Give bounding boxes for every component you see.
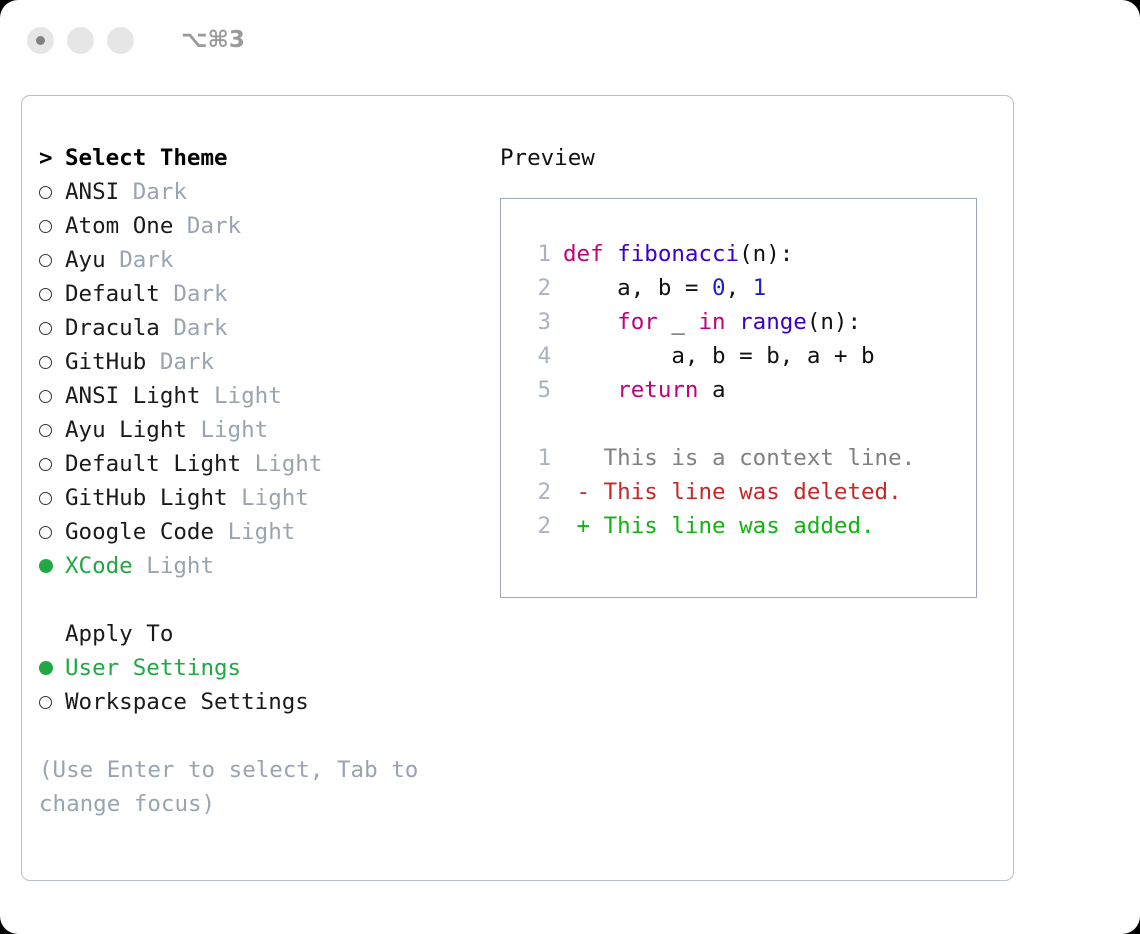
- preview-box: 1def fibonacci(n):2 a, b = 0, 13 for _ i…: [500, 198, 977, 598]
- theme-list-item[interactable]: ANSI Dark: [39, 175, 469, 209]
- theme-list-item[interactable]: Dracula Dark: [39, 311, 469, 345]
- window-dot-3[interactable]: [107, 27, 134, 54]
- theme-list-item[interactable]: Ayu Light Light: [39, 413, 469, 447]
- radio-selected-icon[interactable]: [39, 559, 65, 573]
- theme-variant: Dark: [173, 315, 227, 341]
- theme-variant: Dark: [133, 179, 187, 205]
- code-text: - This line was deleted.: [563, 479, 902, 505]
- token-plain: [563, 377, 617, 403]
- keyboard-hint: (Use Enter to select, Tab to change focu…: [39, 753, 469, 821]
- code-preview: 1def fibonacci(n):2 a, b = 0, 13 for _ i…: [521, 237, 976, 543]
- radio-bullet: [39, 492, 52, 505]
- theme-list-item[interactable]: GitHub Light Light: [39, 481, 469, 515]
- token-del: - This line was deleted.: [563, 479, 902, 505]
- theme-list-item[interactable]: Atom One Dark: [39, 209, 469, 243]
- line-number: 4: [521, 343, 551, 369]
- apply-to-option[interactable]: User Settings: [39, 651, 469, 685]
- radio-bullet: [39, 220, 52, 233]
- radio-bullet: [39, 322, 52, 335]
- code-line: 2 a, b = 0, 1: [521, 271, 976, 305]
- theme-list-item[interactable]: ANSI Light Light: [39, 379, 469, 413]
- code-line: 2 - This line was deleted.: [521, 475, 976, 509]
- theme-name: ANSI Light: [65, 383, 200, 409]
- token-plain: a: [698, 377, 725, 403]
- main-panel: > Select Theme ANSI DarkAtom One DarkAyu…: [21, 95, 1014, 881]
- token-plain: (n):: [807, 309, 861, 335]
- radio-unselected-icon[interactable]: [39, 186, 65, 199]
- radio-unselected-icon[interactable]: [39, 696, 65, 709]
- code-line: 3 for _ in range(n):: [521, 305, 976, 339]
- theme-name: Default Light: [65, 451, 241, 477]
- token-num: 0: [712, 275, 726, 301]
- code-text: for _ in range(n):: [563, 309, 861, 335]
- code-line: 5 return a: [521, 373, 976, 407]
- terminal-window: ⌥⌘3 > Select Theme ANSI DarkAtom One Dar…: [0, 0, 1140, 934]
- theme-name: Google Code: [65, 519, 214, 545]
- radio-unselected-icon[interactable]: [39, 322, 65, 335]
- theme-name: GitHub Light: [65, 485, 228, 511]
- select-theme-header: > Select Theme: [39, 141, 469, 175]
- token-plain: a, b =: [563, 275, 712, 301]
- token-kw: def: [563, 241, 617, 267]
- code-line: 1def fibonacci(n):: [521, 237, 976, 271]
- token-fn: range: [739, 309, 807, 335]
- preview-title: Preview: [500, 141, 990, 175]
- keyboard-shortcut-label: ⌥⌘3: [181, 27, 245, 53]
- radio-bullet: [39, 424, 52, 437]
- window-titlebar: ⌥⌘3: [0, 0, 1140, 80]
- apply-to-label: User Settings: [65, 655, 241, 681]
- apply-to-header: Apply To: [39, 617, 469, 651]
- token-kw: return: [617, 377, 698, 403]
- theme-name: Ayu Light: [65, 417, 187, 443]
- radio-bullet: [39, 288, 52, 301]
- code-line: 2 + This line was added.: [521, 509, 976, 543]
- theme-list: ANSI DarkAtom One DarkAyu DarkDefault Da…: [39, 175, 469, 583]
- line-number: 1: [521, 241, 551, 267]
- radio-bullet: [39, 559, 53, 573]
- theme-list-item[interactable]: Default Dark: [39, 277, 469, 311]
- theme-variant: Light: [146, 553, 214, 579]
- theme-variant: Light: [200, 417, 268, 443]
- theme-variant: Dark: [160, 349, 214, 375]
- theme-list-item[interactable]: Google Code Light: [39, 515, 469, 549]
- radio-unselected-icon[interactable]: [39, 356, 65, 369]
- theme-name: GitHub: [65, 349, 146, 375]
- radio-unselected-icon[interactable]: [39, 220, 65, 233]
- code-line: 4 a, b = b, a + b: [521, 339, 976, 373]
- radio-bullet: [39, 526, 52, 539]
- token-fn: fibonacci: [617, 241, 739, 267]
- token-ctx: This is a context line.: [563, 445, 915, 471]
- code-text: return a: [563, 377, 726, 403]
- theme-selector-column: > Select Theme ANSI DarkAtom One DarkAyu…: [39, 141, 469, 821]
- token-plain: (n):: [739, 241, 793, 267]
- theme-list-item[interactable]: Ayu Dark: [39, 243, 469, 277]
- theme-name: Atom One: [65, 213, 173, 239]
- radio-bullet: [39, 390, 52, 403]
- theme-name: Ayu: [65, 247, 106, 273]
- token-plain: a, b = b, a + b: [563, 343, 875, 369]
- theme-variant: Dark: [187, 213, 241, 239]
- radio-unselected-icon[interactable]: [39, 492, 65, 505]
- window-dot-2[interactable]: [67, 27, 94, 54]
- caret-icon: >: [39, 147, 65, 170]
- token-plain: ,: [726, 275, 753, 301]
- code-line: 1 This is a context line.: [521, 441, 976, 475]
- theme-variant: Dark: [119, 247, 173, 273]
- theme-variant: Light: [228, 519, 296, 545]
- code-text: def fibonacci(n):: [563, 241, 793, 267]
- theme-name: XCode: [65, 553, 133, 579]
- radio-unselected-icon[interactable]: [39, 424, 65, 437]
- theme-list-item[interactable]: Default Light Light: [39, 447, 469, 481]
- theme-list-item[interactable]: GitHub Dark: [39, 345, 469, 379]
- radio-bullet: [39, 458, 52, 471]
- radio-unselected-icon[interactable]: [39, 254, 65, 267]
- theme-name: Dracula: [65, 315, 160, 341]
- token-num: 1: [753, 275, 767, 301]
- theme-list-item[interactable]: XCode Light: [39, 549, 469, 583]
- radio-unselected-icon[interactable]: [39, 390, 65, 403]
- code-line-blank: [521, 407, 976, 441]
- apply-to-title: Apply To: [65, 621, 173, 647]
- theme-name: ANSI: [65, 179, 119, 205]
- theme-variant: Light: [214, 383, 282, 409]
- token-plain: [563, 309, 617, 335]
- radio-bullet: [39, 186, 52, 199]
- code-text: a, b = 0, 1: [563, 275, 766, 301]
- line-number: 2: [521, 513, 551, 539]
- theme-name: Default: [65, 281, 160, 307]
- apply-to-label: Workspace Settings: [65, 689, 309, 715]
- radio-bullet: [39, 356, 52, 369]
- token-add: + This line was added.: [563, 513, 875, 539]
- apply-to-option[interactable]: Workspace Settings: [39, 685, 469, 719]
- section-spacer: [39, 583, 469, 617]
- theme-variant: Dark: [173, 281, 227, 307]
- token-plain: [726, 309, 740, 335]
- token-plain: _: [658, 309, 699, 335]
- select-theme-title: Select Theme: [65, 145, 228, 171]
- radio-bullet: [39, 661, 53, 675]
- line-number: 5: [521, 377, 551, 403]
- token-kw: in: [698, 309, 725, 335]
- window-dot-active[interactable]: [27, 27, 54, 54]
- theme-variant: Light: [241, 485, 309, 511]
- code-text: a, b = b, a + b: [563, 343, 875, 369]
- window-dot-active-inner: [36, 36, 45, 45]
- radio-unselected-icon[interactable]: [39, 458, 65, 471]
- radio-unselected-icon[interactable]: [39, 526, 65, 539]
- code-text: + This line was added.: [563, 513, 875, 539]
- code-text: This is a context line.: [563, 445, 915, 471]
- apply-to-options: User SettingsWorkspace Settings: [39, 651, 469, 719]
- preview-column: Preview 1def fibonacci(n):2 a, b = 0, 13…: [500, 141, 990, 598]
- line-number: 3: [521, 309, 551, 335]
- line-number: 2: [521, 275, 551, 301]
- radio-unselected-icon[interactable]: [39, 288, 65, 301]
- theme-variant: Light: [255, 451, 323, 477]
- token-kw: for: [617, 309, 658, 335]
- radio-bullet: [39, 254, 52, 267]
- line-number: 1: [521, 445, 551, 471]
- line-number: 2: [521, 479, 551, 505]
- radio-selected-icon[interactable]: [39, 661, 65, 675]
- radio-bullet: [39, 696, 52, 709]
